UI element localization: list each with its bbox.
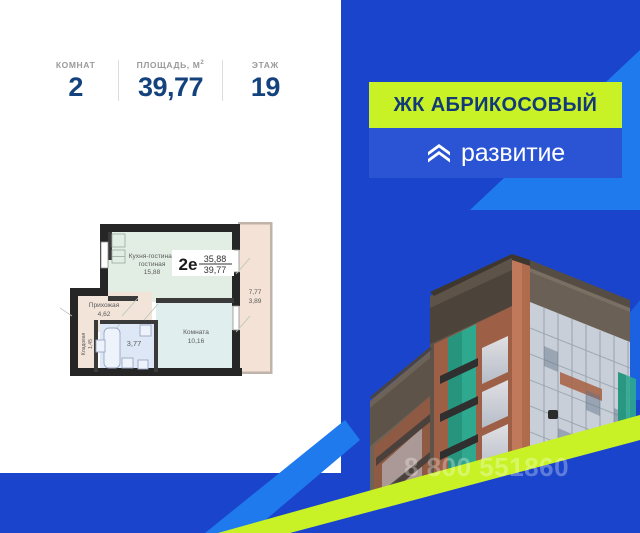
double-chevron-up-icon (426, 141, 452, 165)
label-storage-name: Кладовая (81, 333, 87, 356)
badge-type: 2е (179, 255, 198, 274)
stat-area-label-text: ПЛОЩАДЬ, м (137, 60, 201, 70)
info-card: КОМНАТ 2 ПЛОЩАДЬ, м2 39,77 ЭТАЖ 19 (0, 0, 341, 473)
stat-floor-label: ЭТАЖ (252, 60, 279, 70)
label-kitchen-name2: гостиная (139, 261, 166, 268)
developer-name-text: развитие (461, 139, 565, 168)
floorplan-type-badge: 2е 35,88 39,77 (172, 250, 234, 276)
label-kitchen-area: 15,88 (144, 269, 161, 276)
label-balcony-coeff: 7,77 (249, 289, 262, 296)
stat-rooms: КОМНАТ 2 (34, 60, 118, 101)
complex-name-text: ЖК АБРИКОСОВЫЙ (394, 94, 598, 117)
stat-floor-value: 19 (251, 74, 280, 101)
label-bathroom-area: 3,77 (127, 339, 141, 348)
floorplan: Кухня-гостиная гостиная 15,88 Прихожая 4… (60, 212, 290, 392)
stat-area-value: 39,77 (138, 74, 203, 101)
developer-banner: развитие (369, 128, 622, 178)
label-kitchen-name: Кухня-гостиная (129, 253, 176, 260)
label-room-name: Комната (183, 329, 209, 336)
floorplan-room-fill (156, 300, 238, 372)
label-room-area: 10,16 (188, 338, 205, 345)
label-hallway-area: 4,62 (98, 311, 111, 318)
stat-floor: ЭТАЖ 19 (222, 60, 307, 101)
label-balcony-calc: 3,89 (249, 298, 262, 305)
label-hallway-name: Прихожая (89, 302, 120, 309)
stat-rooms-label: КОМНАТ (56, 60, 96, 70)
poster-root: КОМНАТ 2 ПЛОЩАДЬ, м2 39,77 ЭТАЖ 19 (0, 0, 640, 533)
stat-rooms-value: 2 (68, 74, 83, 101)
badge-area-net: 35,88 (204, 254, 227, 264)
badge-area-total: 39,77 (204, 265, 227, 275)
stats-row: КОМНАТ 2 ПЛОЩАДЬ, м2 39,77 ЭТАЖ 19 (0, 60, 341, 130)
stat-area-label-superscript: 2 (200, 60, 204, 66)
stat-area: ПЛОЩАДЬ, м2 39,77 (118, 60, 223, 101)
residential-building-render (352, 196, 640, 533)
logo-block: ЖК АБРИКОСОВЫЙ развитие (369, 82, 622, 178)
stat-area-label: ПЛОЩАДЬ, м2 (137, 60, 205, 70)
label-storage-area: 1,45 (88, 339, 94, 349)
complex-name-banner: ЖК АБРИКОСОВЫЙ (369, 82, 622, 128)
